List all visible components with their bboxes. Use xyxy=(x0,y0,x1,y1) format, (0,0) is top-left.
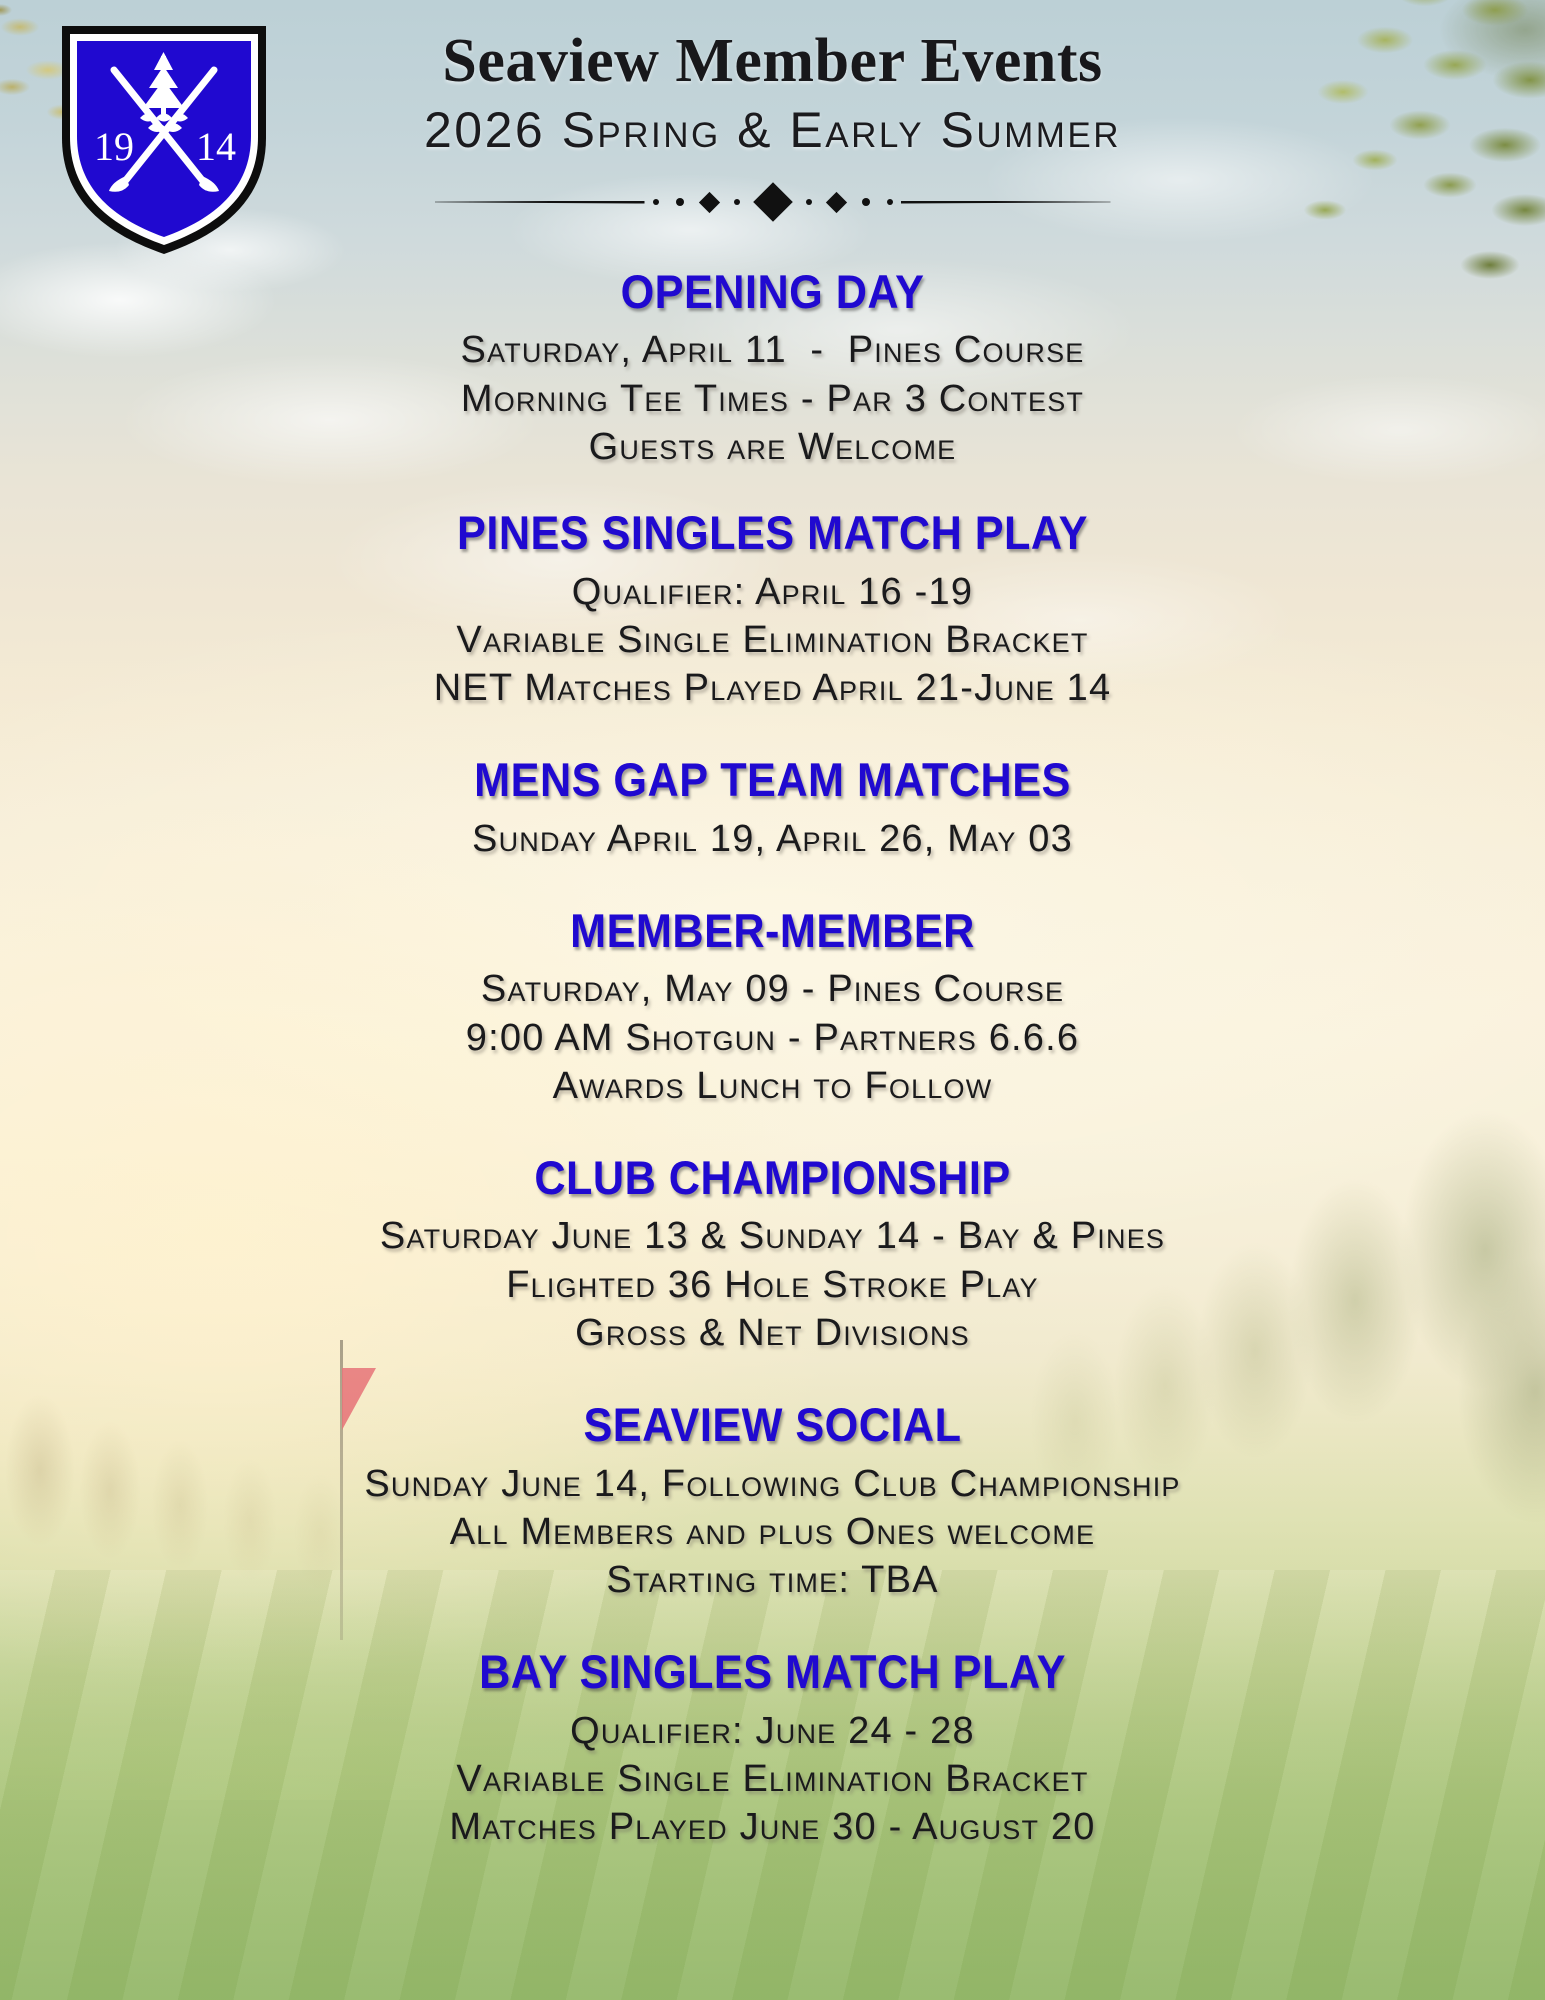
event-detail-line: Sunday April 19, April 26, May 03 xyxy=(0,815,1545,863)
page-title: Seaview Member Events xyxy=(300,30,1245,93)
event-title: BAY SINGLES MATCH PLAY xyxy=(62,1644,1483,1700)
event-details: Saturday, May 09 - Pines Course9:00 AM S… xyxy=(0,965,1545,1110)
event-section: BAY SINGLES MATCH PLAYQualifier: June 24… xyxy=(0,1644,1545,1851)
event-details: Saturday, April 11 - Pines CourseMorning… xyxy=(0,326,1545,471)
ornamental-divider xyxy=(300,182,1245,222)
event-detail-line: Awards Lunch to Follow xyxy=(0,1062,1545,1110)
event-title: MEMBER-MEMBER xyxy=(62,903,1483,959)
divider-diamond-center xyxy=(753,182,793,222)
divider-dot xyxy=(676,198,684,206)
event-title: SEAVIEW SOCIAL xyxy=(62,1397,1483,1453)
event-detail-line: Flighted 36 Hole Stroke Play xyxy=(0,1261,1545,1309)
event-detail-line: 9:00 AM Shotgun - Partners 6.6.6 xyxy=(0,1014,1545,1062)
event-detail-line: Saturday, May 09 - Pines Course xyxy=(0,965,1545,1013)
event-list: OPENING DAYSaturday, April 11 - Pines Co… xyxy=(0,238,1545,1851)
event-section: MEMBER-MEMBERSaturday, May 09 - Pines Co… xyxy=(0,903,1545,1110)
event-detail-line: Variable Single Elimination Bracket xyxy=(0,616,1545,664)
event-details: Sunday June 14, Following Club Champions… xyxy=(0,1460,1545,1605)
event-detail-line: Starting time: TBA xyxy=(0,1556,1545,1604)
event-detail-line: NET Matches Played April 21-June 14 xyxy=(0,664,1545,712)
event-detail-line: Morning Tee Times - Par 3 Contest xyxy=(0,375,1545,423)
event-section: SEAVIEW SOCIALSunday June 14, Following … xyxy=(0,1397,1545,1604)
svg-text:14: 14 xyxy=(196,124,236,169)
divider-dot xyxy=(734,199,740,205)
flyer-header: Seaview Member Events 2026 Spring & Earl… xyxy=(300,30,1245,158)
event-detail-line: Saturday June 13 & Sunday 14 - Bay & Pin… xyxy=(0,1212,1545,1260)
event-section: OPENING DAYSaturday, April 11 - Pines Co… xyxy=(0,264,1545,471)
divider-dot xyxy=(887,199,893,205)
svg-text:19: 19 xyxy=(94,124,134,169)
divider-dot xyxy=(862,198,870,206)
event-title: MENS GAP TEAM MATCHES xyxy=(62,752,1483,808)
club-shield-crest-icon: 19 14 xyxy=(52,18,276,258)
event-title: CLUB CHAMPIONSHIP xyxy=(62,1150,1483,1206)
event-detail-line: Qualifier: June 24 - 28 xyxy=(0,1707,1545,1755)
event-detail-line: Matches Played June 30 - August 20 xyxy=(0,1803,1545,1851)
divider-diamond xyxy=(698,191,719,212)
event-details: Saturday June 13 & Sunday 14 - Bay & Pin… xyxy=(0,1212,1545,1357)
event-detail-line: Gross & Net Divisions xyxy=(0,1309,1545,1357)
event-detail-line: Guests are Welcome xyxy=(0,423,1545,471)
event-detail-line: Qualifier: April 16 -19 xyxy=(0,568,1545,616)
event-section: MENS GAP TEAM MATCHESSunday April 19, Ap… xyxy=(0,752,1545,863)
event-title: OPENING DAY xyxy=(62,264,1483,320)
event-detail-line: Saturday, April 11 - Pines Course xyxy=(0,326,1545,374)
event-section: PINES SINGLES MATCH PLAYQualifier: April… xyxy=(0,505,1545,712)
event-section: CLUB CHAMPIONSHIPSaturday June 13 & Sund… xyxy=(0,1150,1545,1357)
event-detail-line: Sunday June 14, Following Club Champions… xyxy=(0,1460,1545,1508)
event-details: Qualifier: April 16 -19Variable Single E… xyxy=(0,568,1545,713)
divider-rule-right xyxy=(901,201,1111,204)
event-details: Sunday April 19, April 26, May 03 xyxy=(0,815,1545,863)
event-details: Qualifier: June 24 - 28Variable Single E… xyxy=(0,1707,1545,1852)
divider-rule-left xyxy=(435,201,645,204)
divider-dot xyxy=(653,199,659,205)
divider-diamond xyxy=(825,191,846,212)
divider-dot xyxy=(806,199,812,205)
event-detail-line: All Members and plus Ones welcome xyxy=(0,1508,1545,1556)
event-flyer: 19 14 Seaview Member Events 2026 Spring … xyxy=(0,0,1545,2000)
event-detail-line: Variable Single Elimination Bracket xyxy=(0,1755,1545,1803)
event-title: PINES SINGLES MATCH PLAY xyxy=(62,505,1483,561)
page-subtitle: 2026 Spring & Early Summer xyxy=(300,103,1245,158)
